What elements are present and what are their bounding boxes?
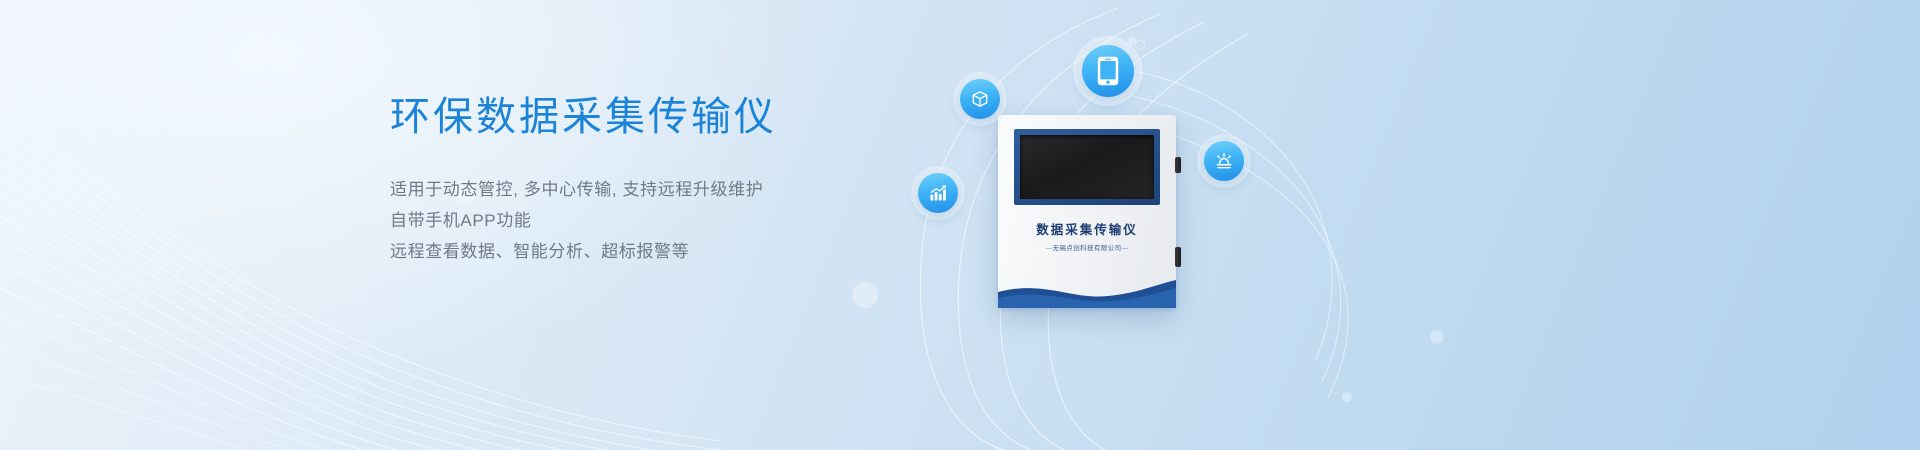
device-side-knob bbox=[1175, 157, 1181, 173]
product-visual-stage: 数据采集传输仪 —无锡点创科技有限公司— bbox=[860, 0, 1560, 450]
device-brand-name: 数据采集传输仪 bbox=[998, 219, 1176, 238]
device-brand-company: —无锡点创科技有限公司— bbox=[998, 242, 1176, 252]
device-screen-bezel bbox=[1014, 129, 1160, 205]
alarm-icon[interactable] bbox=[1204, 141, 1244, 181]
device-screen bbox=[1020, 135, 1154, 199]
device-brand-plate: 数据采集传输仪 —无锡点创科技有限公司— bbox=[998, 219, 1176, 252]
cube-icon[interactable] bbox=[960, 79, 1000, 119]
connection-arcs bbox=[860, 0, 1560, 450]
product-hero-banner: 环保数据采集传输仪 适用于动态管控, 多中心传输, 支持远程升级维护 自带手机A… bbox=[0, 0, 1920, 450]
chart-icon[interactable] bbox=[918, 173, 958, 213]
phone-icon[interactable] bbox=[1082, 45, 1134, 97]
device-footer-wave bbox=[998, 278, 1176, 308]
data-logger-device: 数据采集传输仪 —无锡点创科技有限公司— bbox=[998, 115, 1176, 308]
device-side-knob bbox=[1175, 247, 1181, 267]
